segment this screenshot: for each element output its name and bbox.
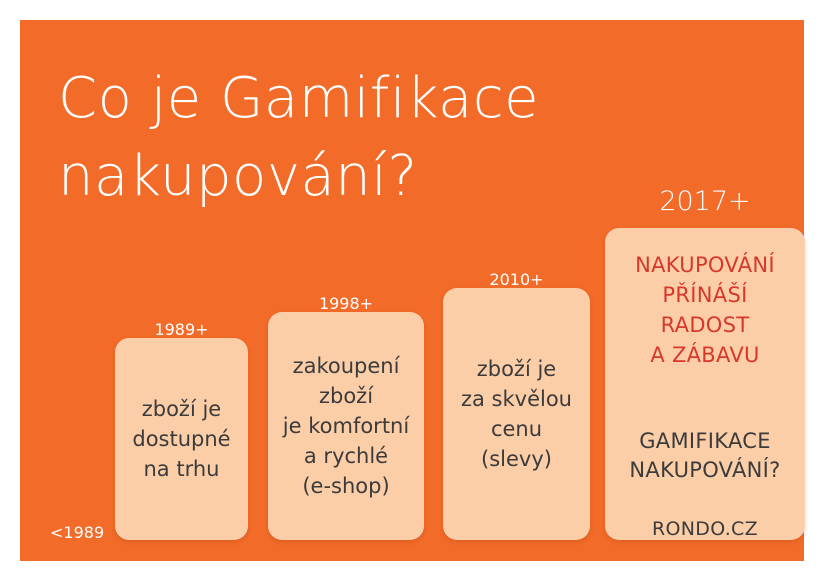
timeline-card-2010-text: zboží je za skvělou cenu (slevy) [453, 354, 580, 474]
year-label-2017: 2017+ [605, 186, 805, 217]
timeline-card-1989-text: zboží je dostupné na trhu [124, 394, 238, 484]
year-label-2010: 2010+ [443, 270, 590, 289]
timeline-card-2017-footer-main: GAMIFIKACE NAKUPOVÁNÍ? [629, 429, 780, 482]
timeline-card-2017-footer-site[interactable]: RONDO.CZ [652, 518, 758, 540]
timeline-card-2017-headline: NAKUPOVÁNÍ PŘÍNÁŠÍ RADOST A ZÁBAVU [635, 250, 775, 370]
page-title: Co je Gamifikace nakupování? [58, 60, 678, 216]
timeline-card-2010: zboží je za skvělou cenu (slevy) [443, 288, 590, 540]
poster-canvas: Co je Gamifikace nakupování? <1989 1989+… [0, 0, 824, 581]
poster-panel: Co je Gamifikace nakupování? <1989 1989+… [20, 20, 804, 561]
timeline-card-1998-text: zakoupení zboží je komfortní a rychlé (e… [275, 351, 417, 501]
pre-era-label: <1989 [50, 523, 104, 542]
year-label-1989: 1989+ [115, 320, 248, 339]
timeline-card-1989: zboží je dostupné na trhu [115, 338, 248, 540]
timeline-card-2017-footer: GAMIFIKACE NAKUPOVÁNÍ? RONDO.CZ [629, 398, 780, 544]
year-label-1998: 1998+ [268, 294, 424, 313]
timeline-card-1998: zakoupení zboží je komfortní a rychlé (e… [268, 312, 424, 540]
timeline-card-2017: NAKUPOVÁNÍ PŘÍNÁŠÍ RADOST A ZÁBAVU GAMIF… [605, 228, 805, 540]
